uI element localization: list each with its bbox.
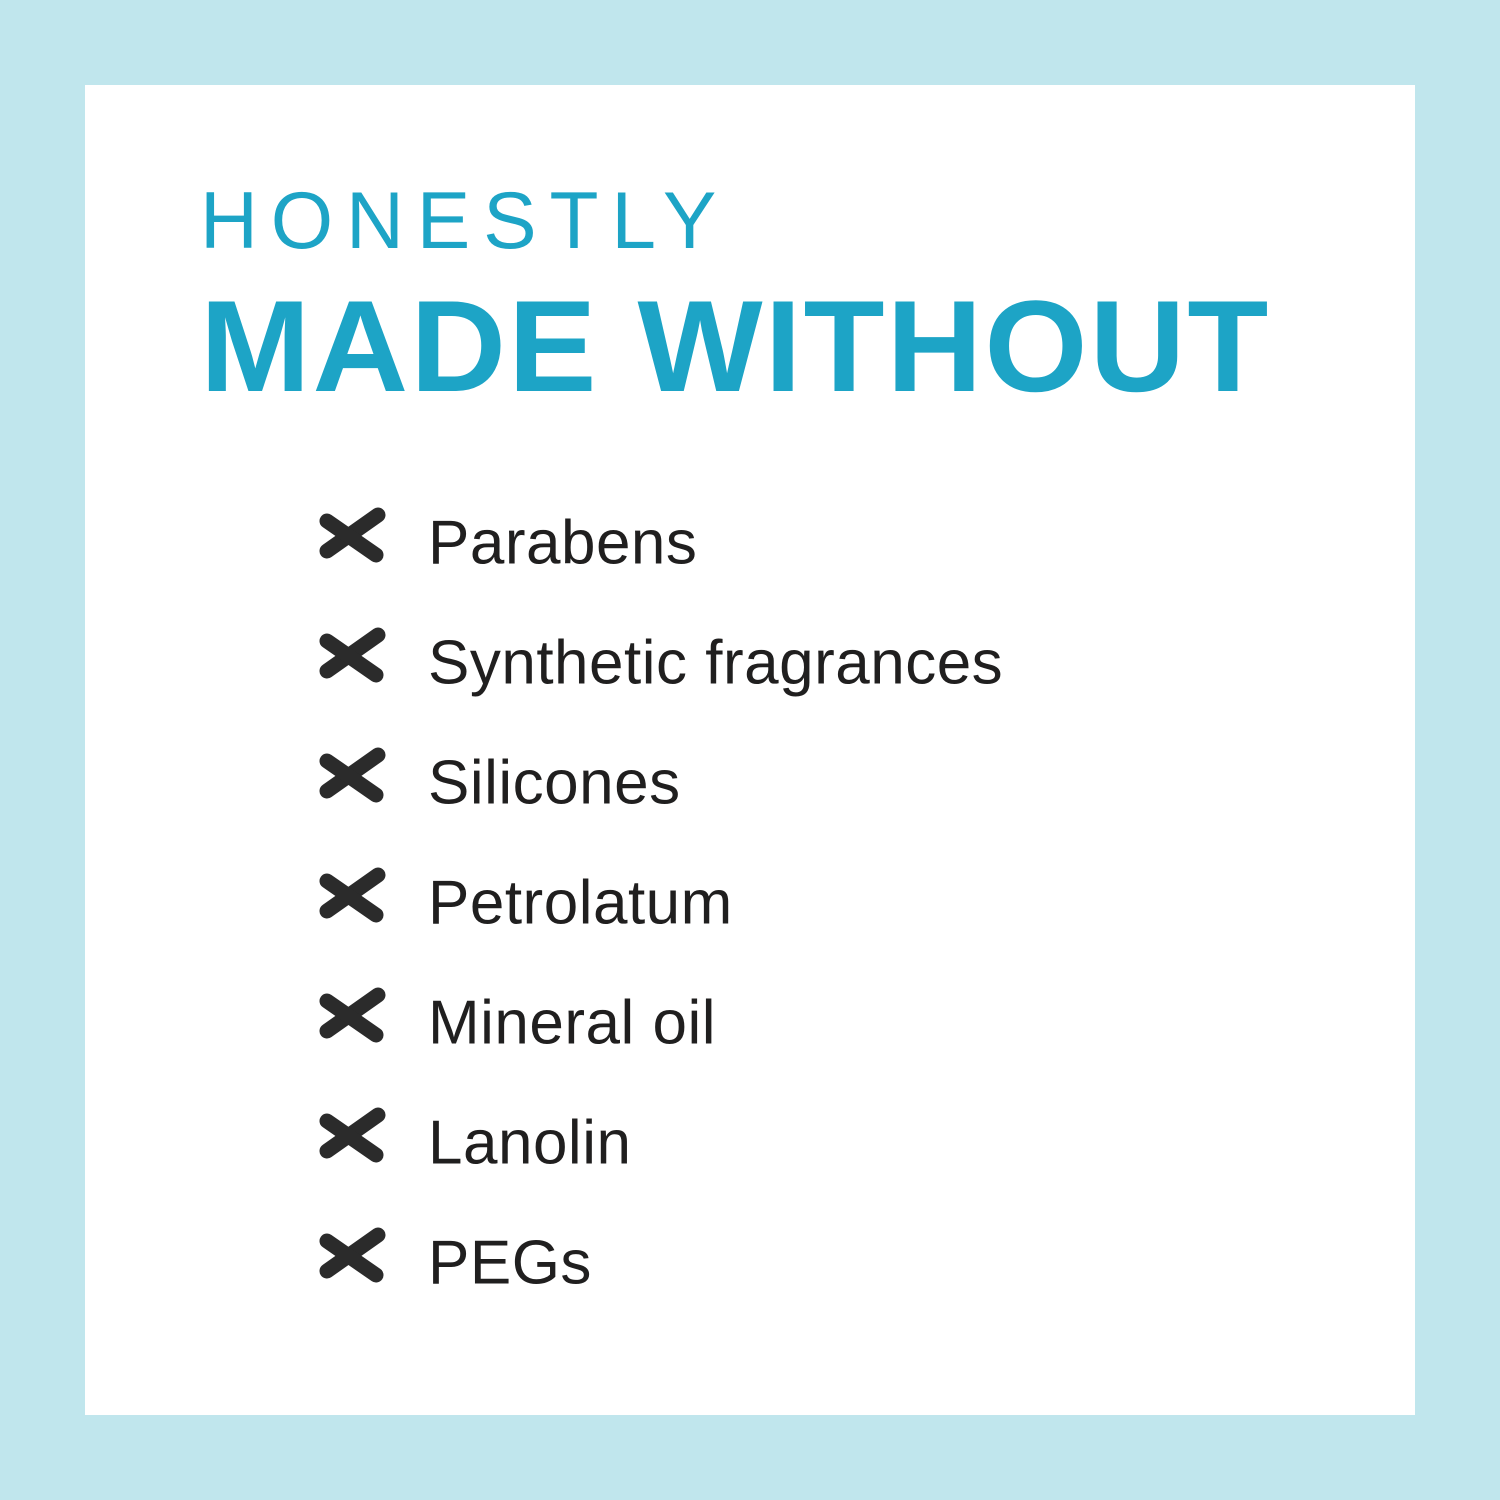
list-item-label: Petrolatum <box>428 871 733 937</box>
list-item-label: PEGs <box>428 1231 592 1297</box>
list-item-label: Silicones <box>428 751 681 817</box>
x-mark-icon <box>316 861 388 933</box>
list-item: Silicones <box>85 725 1415 845</box>
heading-block: HONESTLY MADE WITHOUT <box>200 180 1400 408</box>
x-mark-icon <box>316 1101 388 1173</box>
list-item-label: Synthetic fragrances <box>428 631 1003 697</box>
excluded-ingredients-list: Parabens Synthetic fragrances <box>85 485 1415 1325</box>
list-item-label: Parabens <box>428 511 697 577</box>
x-mark-icon <box>316 1221 388 1293</box>
list-item: PEGs <box>85 1205 1415 1325</box>
x-mark-icon <box>316 981 388 1053</box>
list-item-label: Mineral oil <box>428 991 716 1057</box>
list-item: Synthetic fragrances <box>85 605 1415 725</box>
list-item: Parabens <box>85 485 1415 605</box>
x-mark-icon <box>316 621 388 693</box>
x-mark-icon <box>316 501 388 573</box>
page-kicker: HONESTLY <box>200 180 1388 262</box>
page-title: MADE WITHOUT <box>200 284 1424 408</box>
content-card: HONESTLY MADE WITHOUT Parabens <box>85 85 1415 1415</box>
x-mark-icon <box>316 741 388 813</box>
list-item: Lanolin <box>85 1085 1415 1205</box>
list-item: Petrolatum <box>85 845 1415 965</box>
list-item-label: Lanolin <box>428 1111 631 1177</box>
list-item: Mineral oil <box>85 965 1415 1085</box>
poster-background: HONESTLY MADE WITHOUT Parabens <box>0 0 1500 1500</box>
